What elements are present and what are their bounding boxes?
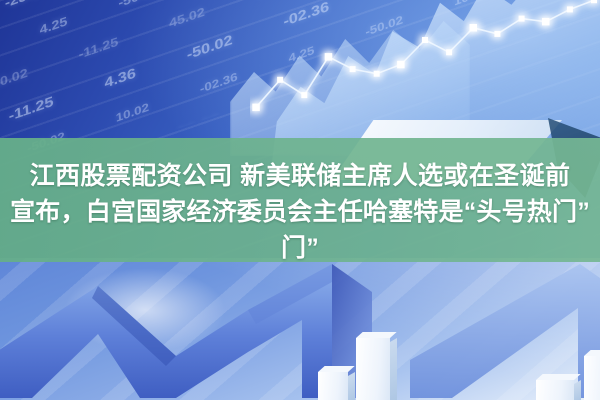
chart-node-marker xyxy=(542,18,550,26)
chart-node-marker xyxy=(446,49,452,55)
ticker-number: -50.02 xyxy=(186,32,233,64)
ticker-number: -50.02 xyxy=(118,0,159,10)
chart-node-markers xyxy=(252,0,597,111)
chart-node-marker xyxy=(325,53,333,61)
ticker-number: -11.25 xyxy=(78,34,119,61)
ticker-number: -02.36 xyxy=(199,70,238,96)
headline-line-3: 门” xyxy=(281,230,319,266)
ticker-number: 10.02 xyxy=(115,100,149,124)
chart-node-marker xyxy=(350,66,356,72)
chart-node-marker xyxy=(252,104,259,112)
chart-node-marker xyxy=(301,92,307,98)
zigzag-arrow-ribbon xyxy=(0,248,600,400)
chart-node-marker xyxy=(494,31,500,37)
column-bar xyxy=(318,372,348,400)
chart-node-marker xyxy=(591,0,597,3)
chart-node-marker xyxy=(470,24,478,32)
chart-node-marker xyxy=(397,61,405,69)
column-bar xyxy=(584,356,600,400)
chart-node-marker xyxy=(567,6,573,12)
chart-node-marker xyxy=(422,37,428,43)
ticker-number: 4.25 xyxy=(39,14,68,37)
chart-line-path xyxy=(256,0,594,107)
ticker-number: -11.25 xyxy=(8,93,54,124)
column-bar xyxy=(356,338,390,400)
news-banner-image: -50.02-11.2545.0221.65-50.02-11.2545.022… xyxy=(0,0,600,400)
chart-node-marker xyxy=(519,16,525,22)
headline-line-2: 宣布，白宫国家经济委员会主任哈塞特是“头号热门” xyxy=(10,194,590,230)
ticker-number: -50.02 xyxy=(0,66,28,93)
headline-line-1: 江西股票配资公司 新美联储主席人选或在圣诞前 xyxy=(30,158,571,194)
chart-node-marker xyxy=(277,77,283,83)
headline-text-block: 江西股票配资公司 新美联储主席人选或在圣诞前 宣布，白宫国家经济委员会主任哈塞特… xyxy=(0,138,600,262)
column-bar xyxy=(536,380,574,400)
ticker-number: 4.36 xyxy=(104,65,137,92)
ticker-number: 45.02 xyxy=(169,5,206,31)
chart-node-marker xyxy=(374,71,380,77)
